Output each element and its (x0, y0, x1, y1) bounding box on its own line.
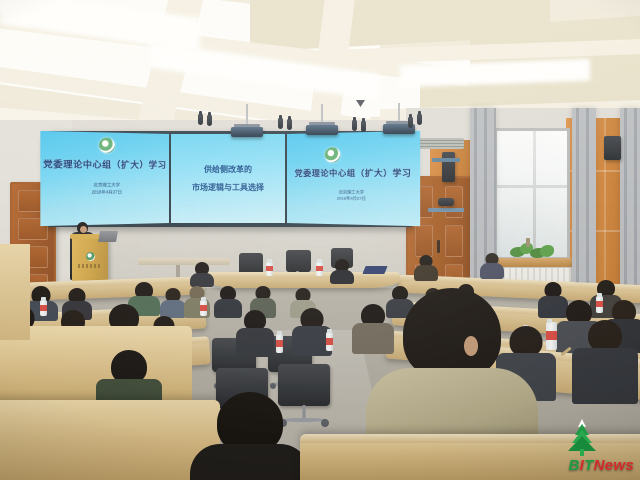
water-bottle-c3 (276, 334, 283, 353)
person-foreground-left-dark (190, 392, 310, 480)
university-emblem-icon (86, 252, 95, 261)
watermark-b: B (569, 457, 580, 474)
water-bottle-d2 (546, 322, 557, 350)
person-foreground-ear (464, 336, 478, 356)
laptop-icon (98, 231, 118, 242)
lecture-hall-photo: 党委理论中心组（扩大）学习 北京理工大学 2016年4月27日 供给侧改革的 市… (0, 0, 640, 480)
spotlight-3 (278, 118, 283, 129)
camera-mount-icon (438, 198, 454, 206)
spotlight-1 (198, 114, 203, 125)
wall-speaker-right (604, 136, 621, 160)
desk-foreground-left (0, 400, 220, 480)
spotlight-2 (207, 115, 212, 126)
screen-panel-center: 供给侧改革的 市场逻辑与工具选择 (171, 134, 285, 223)
water-bottle-c4 (326, 332, 333, 351)
projector-rod-center (321, 104, 323, 124)
university-emblem-icon (99, 137, 115, 153)
water-bottle-a1 (266, 262, 273, 276)
slide-center-line2: 市场逻辑与工具选择 (171, 182, 285, 193)
curtain-middle[interactable] (572, 108, 596, 298)
stage-chair-2 (286, 250, 311, 272)
projector-left (231, 127, 263, 137)
water-bottle-a2 (316, 262, 323, 276)
window-right (494, 128, 570, 260)
pine-tree-logo-icon (562, 418, 602, 458)
desk-side-panel-left (0, 244, 30, 340)
slide-subtitle-right-line2: 2016年4月27日 (287, 195, 420, 202)
slide-subtitle-left-line2: 2016年4月27日 (40, 189, 169, 196)
person-foreground-large (366, 288, 538, 456)
door-handle-icon[interactable] (437, 240, 440, 253)
watermark-t: T (584, 457, 593, 474)
wall-speaker-left (442, 152, 455, 182)
watermark-news: News (594, 457, 634, 474)
watermark: BITNews (544, 418, 636, 476)
speaker-bracket-left (432, 158, 460, 162)
projector-rod-left (246, 104, 248, 126)
projector-center (306, 125, 338, 135)
stage-table (138, 258, 230, 265)
university-emblem-icon (325, 147, 341, 163)
person-a2 (330, 259, 354, 281)
slide-title-left: 党委理论中心组（扩大）学习 (40, 158, 169, 171)
water-bottle-b2 (200, 300, 207, 316)
person-b4 (160, 288, 186, 316)
wall-trim-left (428, 208, 464, 212)
person-a4 (480, 253, 504, 277)
notebook-a1 (362, 266, 387, 274)
slide-center-line1: 供给侧改革的 (171, 164, 285, 175)
spotlight-8 (417, 114, 422, 125)
person-d4 (572, 320, 638, 402)
projector-rod-right (398, 103, 400, 123)
slide-title-right: 党委理论中心组（扩大）学习 (287, 167, 420, 179)
spotlight-4 (287, 119, 292, 130)
person-c5 (236, 310, 274, 354)
person-a1 (190, 262, 214, 284)
watermark-text: BITNews (569, 457, 634, 474)
potted-plant-icon (506, 243, 558, 261)
curtain-right[interactable] (620, 108, 640, 288)
person-a3 (414, 255, 438, 279)
slide-subtitle-left-line1: 北京理工大学 (40, 182, 169, 188)
screen-panel-right: 党委理论中心组（扩大）学习 北京理工大学 2016年4月27日 (287, 131, 420, 227)
spotlight-5 (352, 120, 357, 131)
presenter-face (80, 226, 87, 233)
projection-screen: 党委理论中心组（扩大）学习 北京理工大学 2016年4月27日 供给侧改革的 市… (44, 131, 416, 227)
spotlight-7 (408, 117, 413, 128)
podium-nameplate (78, 264, 102, 268)
screen-panel-left: 党委理论中心组（扩大）学习 北京理工大学 2016年4月27日 (40, 131, 169, 226)
spotlight-6 (361, 121, 366, 132)
